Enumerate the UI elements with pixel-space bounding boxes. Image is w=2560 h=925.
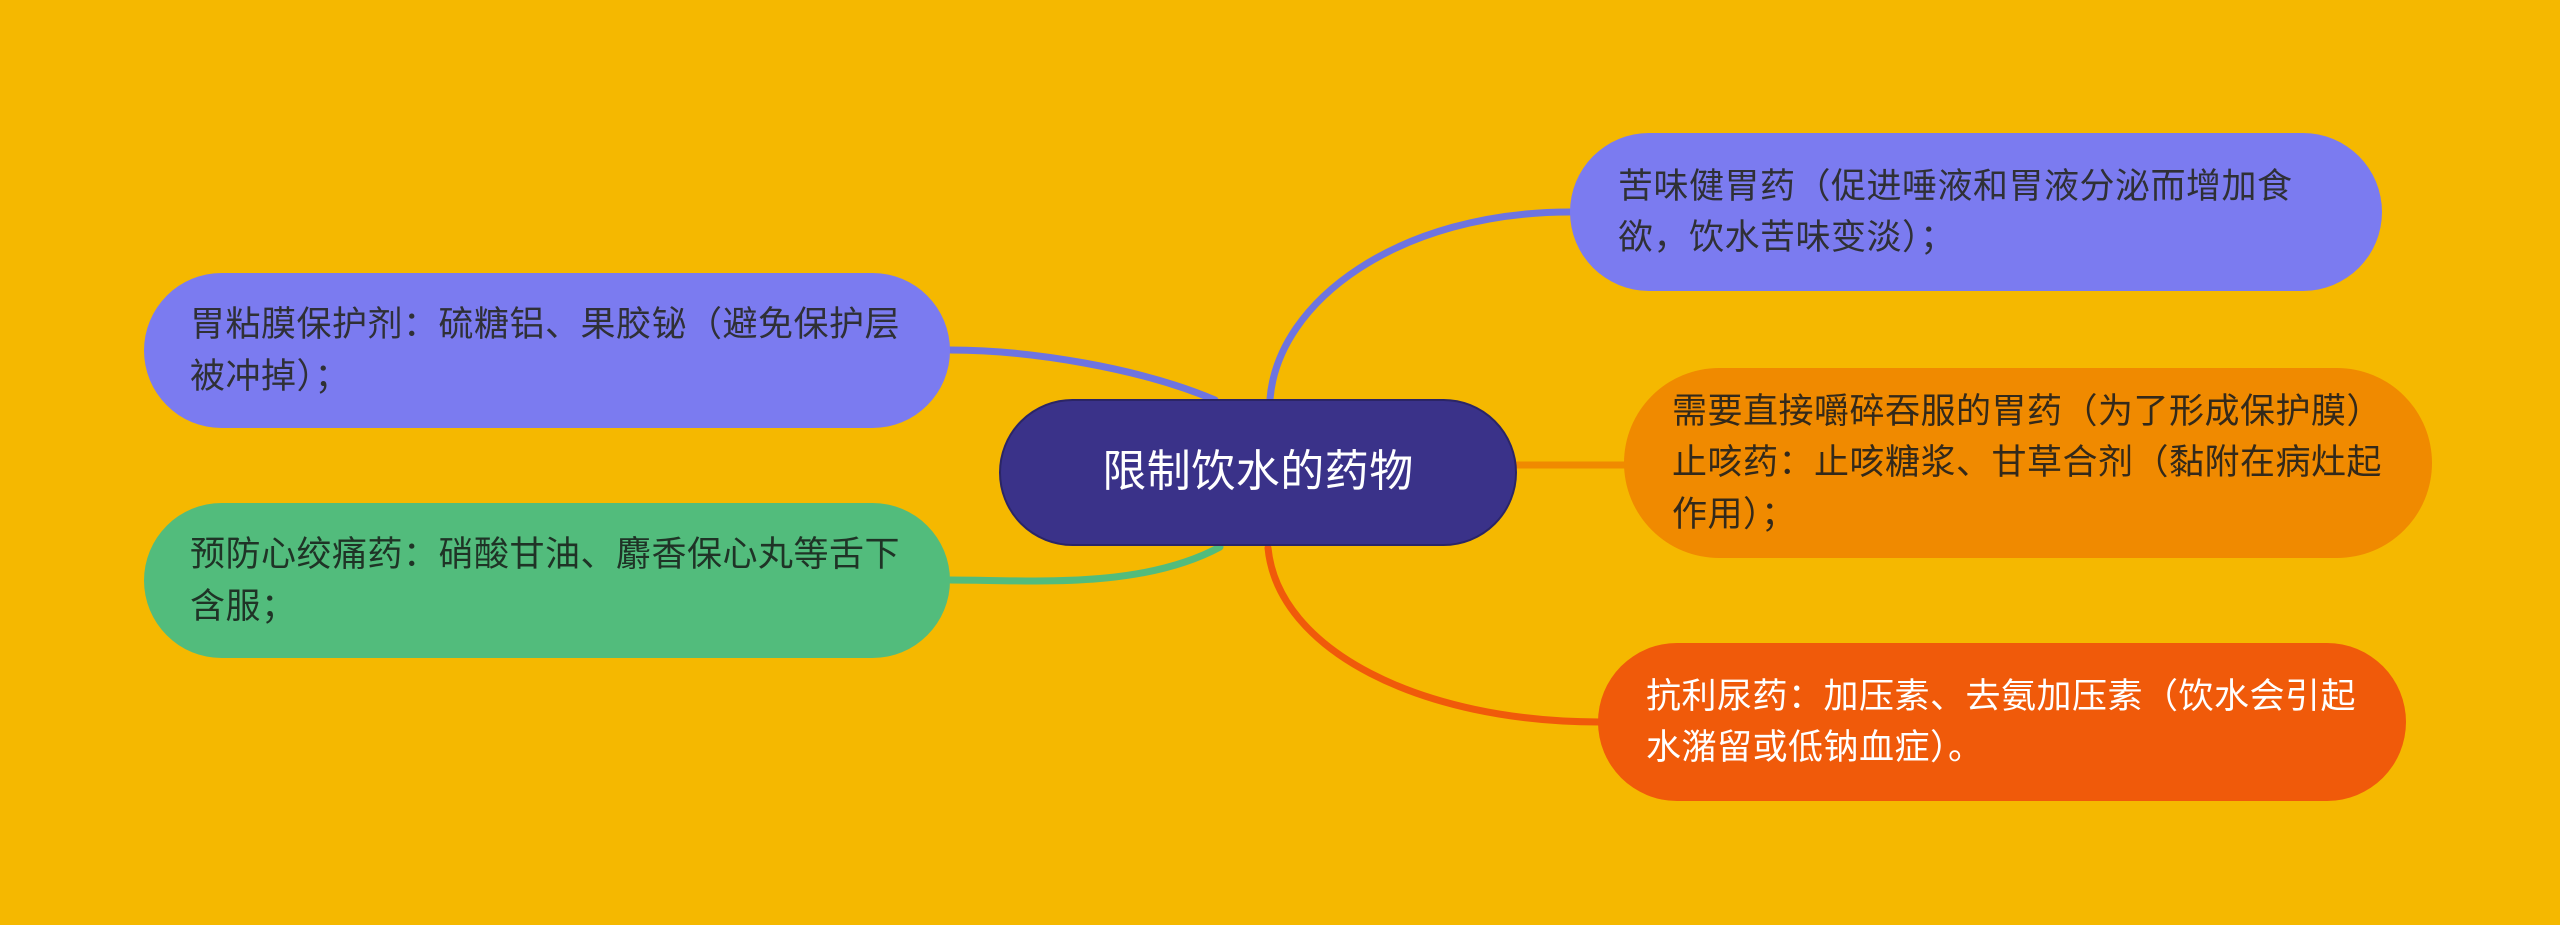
mindmap-canvas: 限制饮水的药物 苦味健胃药（促进唾液和胃液分泌而增加食欲，饮水苦味变淡）； 需要… — [0, 0, 2560, 925]
branch-label-bitter-stomachic: 苦味健胃药（促进唾液和胃液分泌而增加食欲，饮水苦味变淡）； — [1618, 161, 2338, 263]
branch-label-gastric-mucosa-protectants: 胃粘膜保护剂：硫糖铝、果胶铋（避免保护层被冲掉）； — [190, 299, 910, 401]
central-topic-label: 限制饮水的药物 — [1027, 448, 1489, 496]
branch-node-gastric-mucosa-protectants[interactable]: 胃粘膜保护剂：硫糖铝、果胶铋（避免保护层被冲掉）； — [144, 273, 950, 428]
connector-antianginal-prophylaxis — [950, 547, 1220, 581]
branch-label-chewable-stomach-drugs: 需要直接嚼碎吞服的胃药（为了形成保护膜）止咳药：止咳糖浆、甘草合剂（黏附在病灶起… — [1672, 386, 2388, 539]
branch-label-antidiuretic-drugs: 抗利尿药：加压素、去氨加压素（饮水会引起水潴留或低钠血症）。 — [1646, 671, 2362, 773]
connector-gastric-mucosa-protectants — [950, 350, 1215, 400]
branch-node-antidiuretic-drugs[interactable]: 抗利尿药：加压素、去氨加压素（饮水会引起水潴留或低钠血症）。 — [1598, 643, 2406, 801]
connector-bitter-stomachic — [1270, 212, 1570, 399]
branch-node-bitter-stomachic[interactable]: 苦味健胃药（促进唾液和胃液分泌而增加食欲，饮水苦味变淡）； — [1570, 133, 2382, 291]
branch-label-antianginal-prophylaxis: 预防心绞痛药：硝酸甘油、麝香保心丸等舌下含服； — [190, 529, 910, 631]
branch-node-antianginal-prophylaxis[interactable]: 预防心绞痛药：硝酸甘油、麝香保心丸等舌下含服； — [144, 503, 950, 658]
central-topic-node[interactable]: 限制饮水的药物 — [999, 399, 1517, 546]
branch-node-chewable-stomach-drugs[interactable]: 需要直接嚼碎吞服的胃药（为了形成保护膜）止咳药：止咳糖浆、甘草合剂（黏附在病灶起… — [1624, 368, 2432, 558]
connector-antidiuretic-drugs — [1268, 548, 1600, 722]
